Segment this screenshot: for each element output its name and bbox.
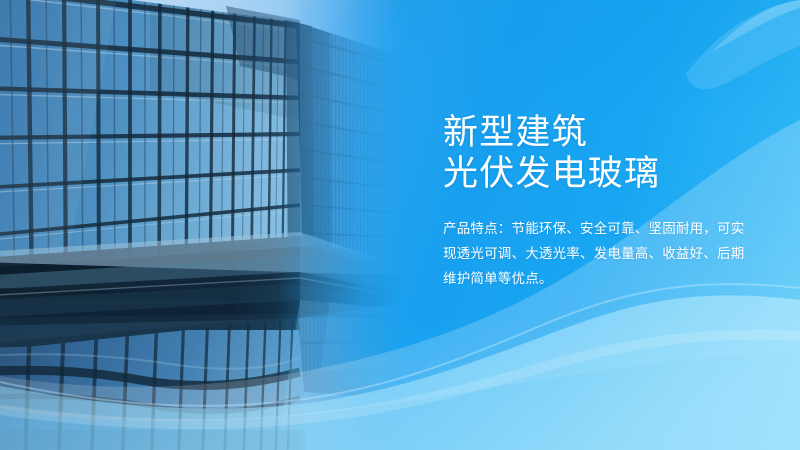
banner-text-block: 新型建筑 光伏发电玻璃 产品特点：节能环保、安全可靠、坚固耐用，可实现透光可调、… — [443, 112, 763, 291]
headline-line-1: 新型建筑 — [443, 113, 588, 152]
promo-banner: 新型建筑 光伏发电玻璃 产品特点：节能环保、安全可靠、坚固耐用，可实现透光可调、… — [0, 0, 800, 450]
headline: 新型建筑 光伏发电玻璃 — [443, 112, 763, 194]
skyscraper-photo — [0, 0, 420, 450]
headline-line-2: 光伏发电玻璃 — [443, 153, 763, 194]
product-features-text: 产品特点：节能环保、安全可靠、坚固耐用，可实现透光可调、大透光率、发电量高、收益… — [443, 216, 755, 291]
